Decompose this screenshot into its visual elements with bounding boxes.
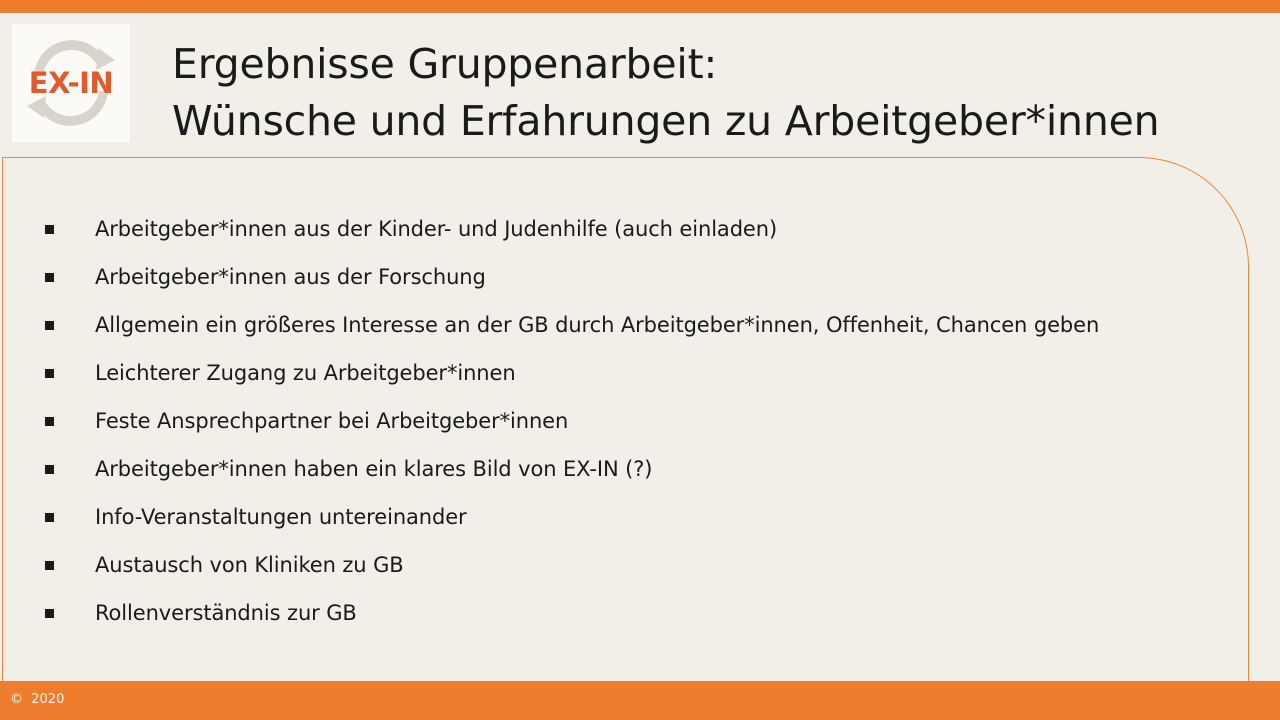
list-item: Info-Veranstaltungen untereinander <box>3 493 1250 541</box>
list-item: Allgemein ein größeres Interesse an der … <box>3 301 1250 349</box>
list-item-label: Arbeitgeber*innen aus der Kinder- und Ju… <box>95 216 777 242</box>
list-item: Arbeitgeber*innen aus der Forschung <box>3 253 1250 301</box>
list-item: Arbeitgeber*innen aus der Kinder- und Ju… <box>3 205 1250 253</box>
list-item: Feste Ansprechpartner bei Arbeitgeber*in… <box>3 397 1250 445</box>
content-frame: Arbeitgeber*innen aus der Kinder- und Ju… <box>2 157 1249 681</box>
list-item-label: Austausch von Kliniken zu GB <box>95 552 404 578</box>
exin-logo: EX-IN <box>12 24 130 142</box>
list-item-label: Allgemein ein größeres Interesse an der … <box>95 312 1099 338</box>
list-item-label: Info-Veranstaltungen untereinander <box>95 504 467 530</box>
square-bullet-icon <box>45 513 54 522</box>
bullet-list: Arbeitgeber*innen aus der Kinder- und Ju… <box>3 158 1250 637</box>
list-item: Austausch von Kliniken zu GB <box>3 541 1250 589</box>
footer-bar: © 2020 <box>0 681 1280 720</box>
page-title: Ergebnisse Gruppenarbeit: Wünsche und Er… <box>172 36 1262 150</box>
list-item-label: Feste Ansprechpartner bei Arbeitgeber*in… <box>95 408 568 434</box>
list-item-label: Arbeitgeber*innen aus der Forschung <box>95 264 486 290</box>
list-item-label: Arbeitgeber*innen haben ein klares Bild … <box>95 456 652 482</box>
list-item-label: Leichterer Zugang zu Arbeitgeber*innen <box>95 360 516 386</box>
exin-wordmark: EX-IN <box>12 66 130 100</box>
square-bullet-icon <box>45 321 54 330</box>
square-bullet-icon <box>45 273 54 282</box>
list-item: Rollenverständnis zur GB <box>3 589 1250 637</box>
square-bullet-icon <box>45 465 54 474</box>
square-bullet-icon <box>45 561 54 570</box>
list-item: Arbeitgeber*innen haben ein klares Bild … <box>3 445 1250 493</box>
slide-header: EX-IN Ergebnisse Gruppenarbeit: Wünsche … <box>0 13 1280 157</box>
square-bullet-icon <box>45 417 54 426</box>
top-accent-bar <box>0 0 1280 13</box>
copyright-label: © 2020 <box>10 692 64 708</box>
list-item: Leichterer Zugang zu Arbeitgeber*innen <box>3 349 1250 397</box>
square-bullet-icon <box>45 369 54 378</box>
square-bullet-icon <box>45 609 54 618</box>
square-bullet-icon <box>45 225 54 234</box>
list-item-label: Rollenverständnis zur GB <box>95 600 357 626</box>
